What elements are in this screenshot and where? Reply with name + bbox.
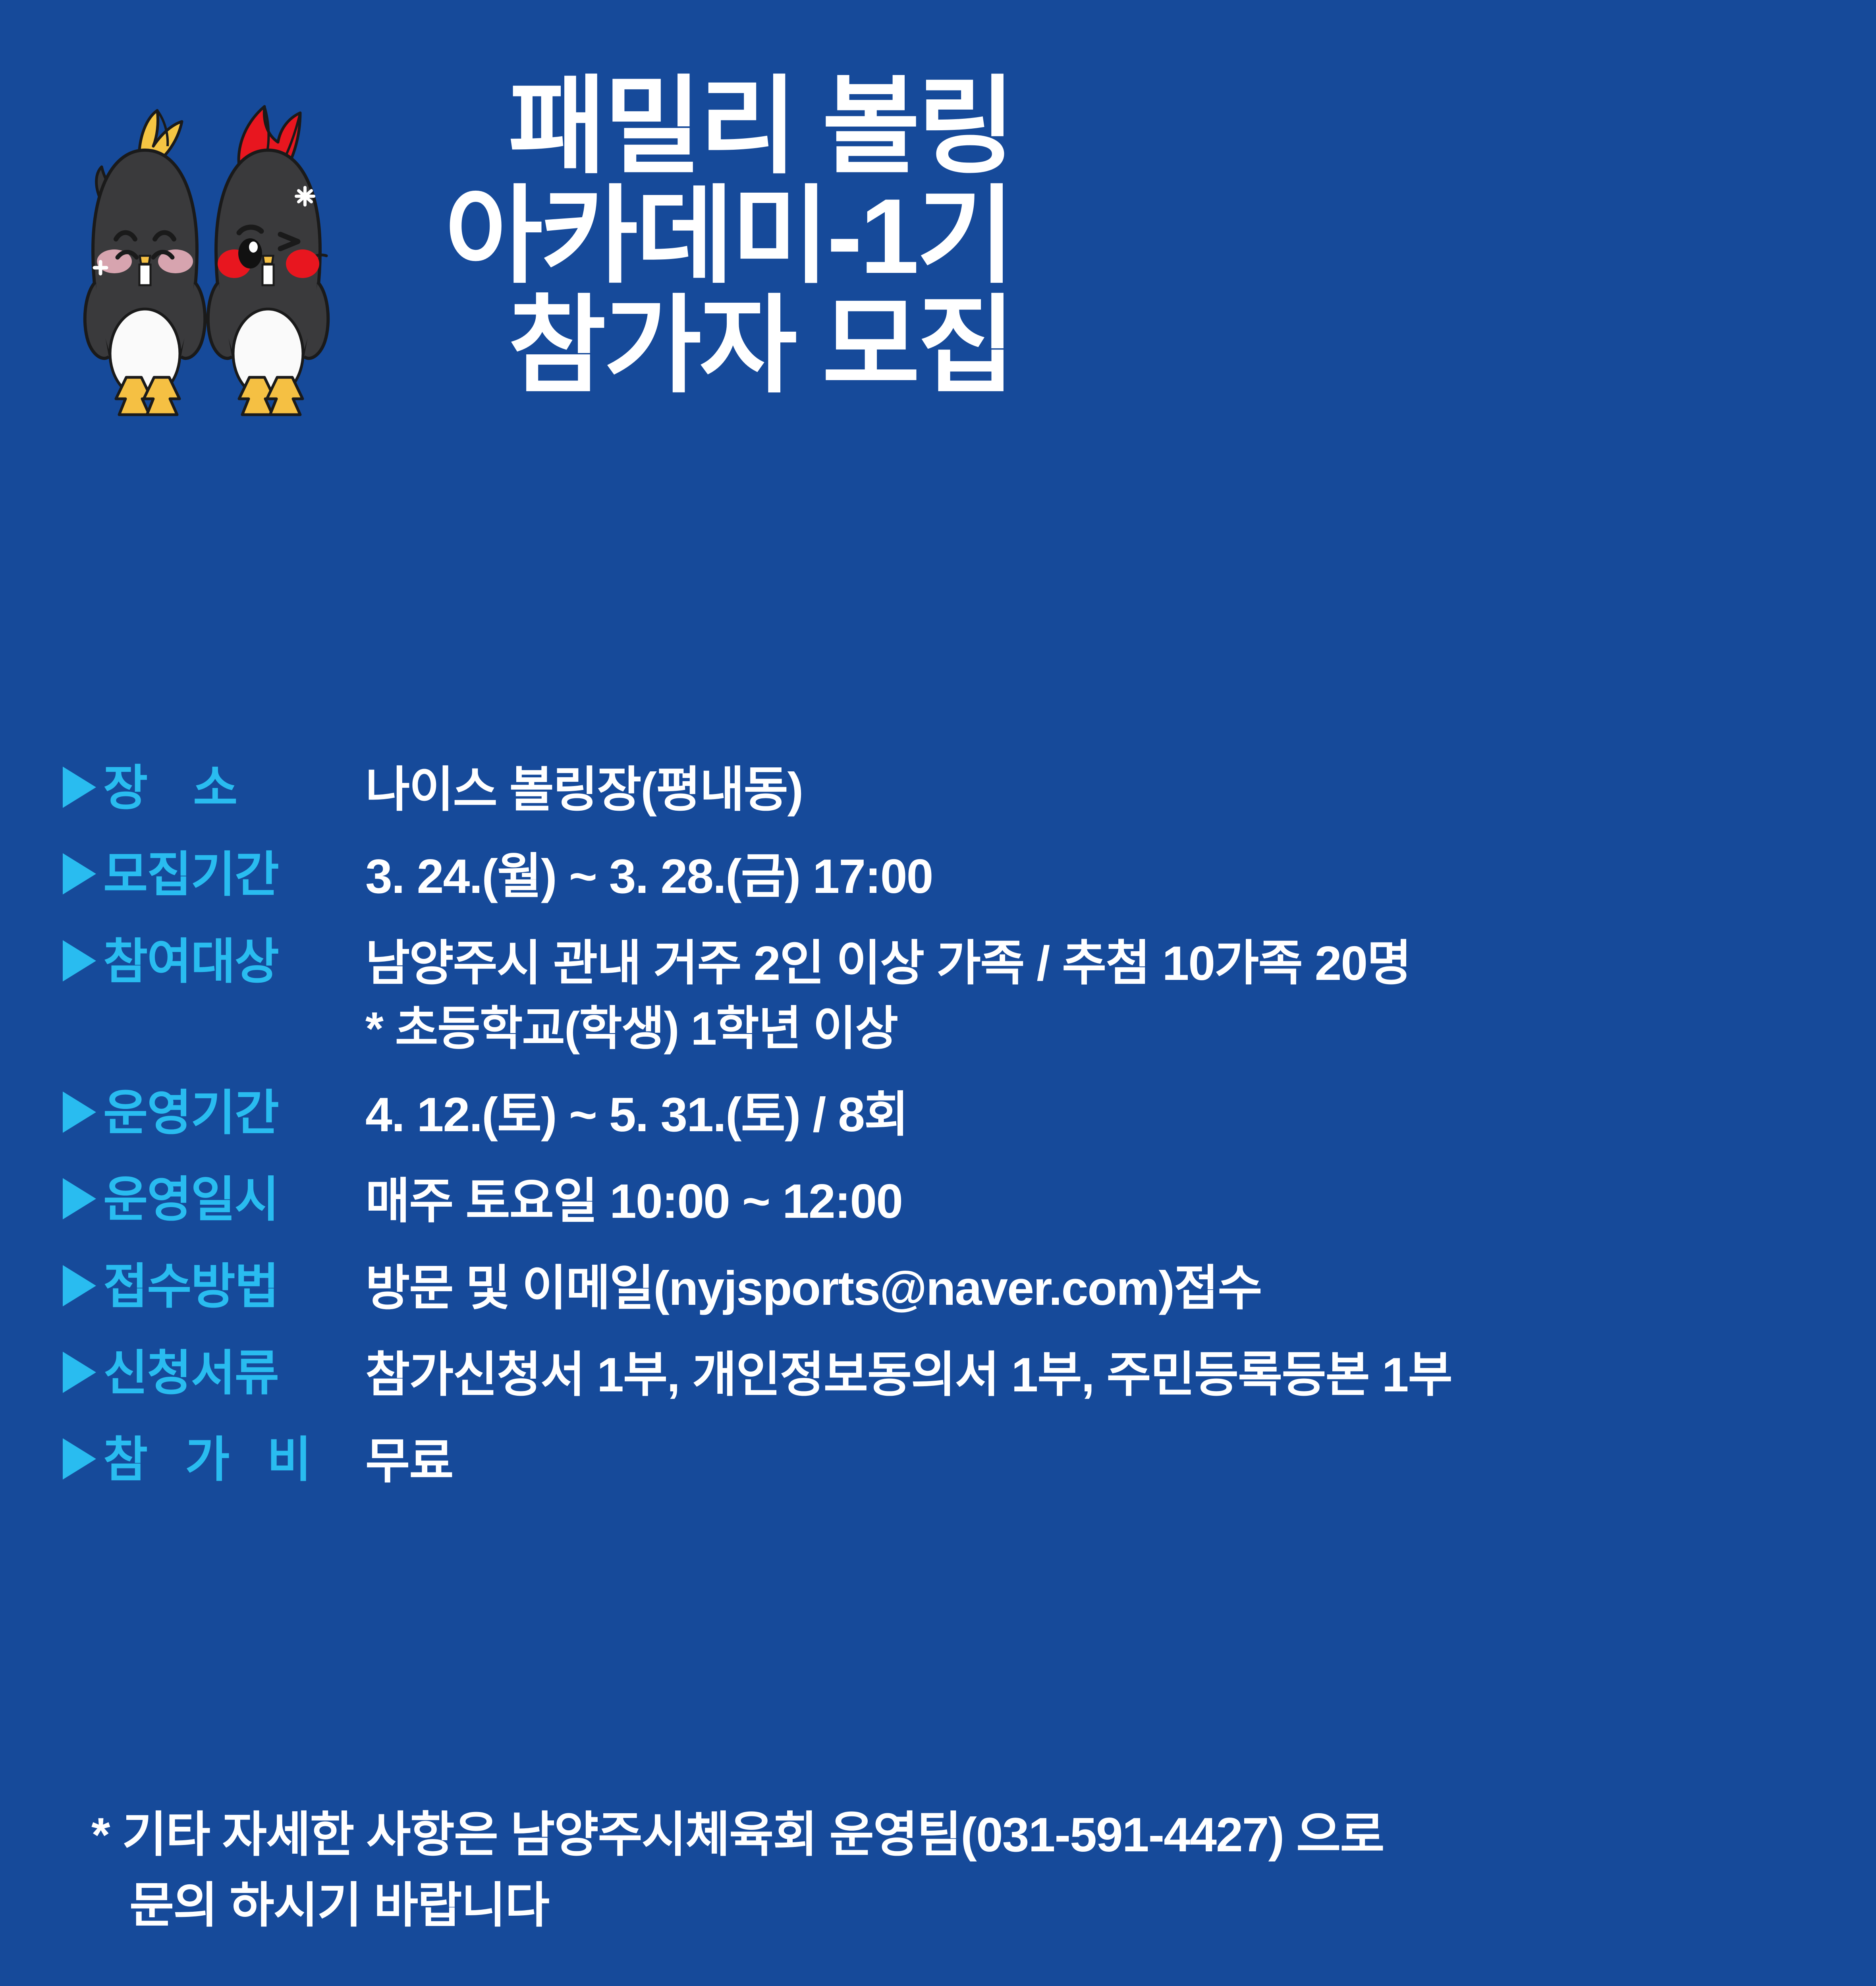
info-value-required-documents: 참가신청서 1부, 개인정보동의서 1부, 주민등록등본 1부 [365, 1348, 1452, 1402]
footnote-line-2: 문의 하시기 바랍니다 [91, 1870, 1839, 1941]
mascot-illustration [79, 56, 365, 429]
triangle-right-icon [60, 1090, 98, 1134]
red-crest-bird-icon [203, 99, 334, 429]
info-values-application-method: 방문 및 이메일(nyjsports@naver.com)접수 [365, 1253, 1847, 1321]
info-values-program-period: 4. 12.(토) ~ 5. 31.(토) / 8회 [365, 1080, 1847, 1148]
title-line-2: 아카데미-1기 [445, 181, 1795, 291]
info-label-application-period: 모집기간 [103, 841, 365, 908]
info-value-program-period: 4. 12.(토) ~ 5. 31.(토) / 8회 [365, 1088, 908, 1142]
info-values-venue: 나이스 볼링장(평내동) [365, 755, 1847, 823]
triangle-right-icon [60, 939, 98, 983]
info-label-application-method: 접수방법 [103, 1253, 365, 1320]
info-values-eligibility: 남양주시 관내 거주 2인 이상 가족 / 추첨 10가족 20명 * 초등학교… [365, 928, 1847, 1061]
info-row-application-period: 모집기간 3. 24.(월) ~ 3. 28.(금) 17:00 [60, 841, 1847, 910]
info-row-eligibility: 참여대상 남양주시 관내 거주 2인 이상 가족 / 추첨 10가족 20명 *… [60, 928, 1847, 1061]
triangle-right-icon [60, 852, 98, 896]
info-values-required-documents: 참가신청서 1부, 개인정보동의서 1부, 주민등록등본 1부 [365, 1340, 1847, 1408]
info-value-application-method: 방문 및 이메일(nyjsports@naver.com)접수 [365, 1261, 1262, 1315]
triangle-right-icon [60, 1350, 98, 1395]
info-value-eligibility: 남양주시 관내 거주 2인 이상 가족 / 추첨 10가족 20명 [365, 936, 1411, 990]
triangle-right-icon [60, 1437, 98, 1481]
info-row-application-method: 접수방법 방문 및 이메일(nyjsports@naver.com)접수 [60, 1253, 1847, 1321]
title-line-1: 패밀리 볼링 [445, 71, 1795, 181]
info-value-application-period: 3. 24.(월) ~ 3. 28.(금) 17:00 [365, 849, 932, 903]
info-value-fee: 무료 [365, 1434, 453, 1488]
info-values-fee: 무료 [365, 1426, 1847, 1495]
info-row-venue: 장 소 나이스 볼링장(평내동) [60, 755, 1847, 823]
footnote-block: * 기타 자세한 사항은 남양주시체육회 운영팀(031-591-4427) 으… [91, 1799, 1839, 1941]
info-row-fee: 참 가 비 무료 [60, 1426, 1847, 1495]
info-label-eligibility: 참여대상 [103, 928, 365, 995]
info-label-required-documents: 신청서류 [103, 1340, 365, 1406]
info-label-schedule: 운영일시 [103, 1166, 365, 1233]
info-label-fee: 참 가 비 [103, 1426, 365, 1493]
info-list: 장 소 나이스 볼링장(평내동) 모집기간 3. 24.(월) ~ 3. 28.… [60, 755, 1847, 1505]
footnote-line-1: * 기타 자세한 사항은 남양주시체육회 운영팀(031-591-4427) 으… [91, 1799, 1839, 1870]
info-label-venue: 장 소 [103, 755, 365, 821]
triangle-right-icon [60, 765, 98, 809]
triangle-right-icon [60, 1263, 98, 1308]
poster-root: 패밀리 볼링 아카데미-1기 참가자 모집 장 소 나이스 볼링장(평내동) 모… [0, 0, 1876, 1986]
info-value-eligibility-note: * 초등학교(학생) 1학년 이상 [365, 1003, 897, 1055]
triangle-right-icon [60, 1177, 98, 1221]
info-row-required-documents: 신청서류 참가신청서 1부, 개인정보동의서 1부, 주민등록등본 1부 [60, 1340, 1847, 1408]
info-value-schedule: 매주 토요일 10:00 ~ 12:00 [365, 1174, 902, 1228]
info-values-schedule: 매주 토요일 10:00 ~ 12:00 [365, 1166, 1847, 1234]
info-values-application-period: 3. 24.(월) ~ 3. 28.(금) 17:00 [365, 841, 1847, 910]
title-line-3: 참가자 모집 [445, 291, 1795, 400]
info-row-program-period: 운영기간 4. 12.(토) ~ 5. 31.(토) / 8회 [60, 1080, 1847, 1148]
info-value-venue: 나이스 볼링장(평내동) [365, 763, 803, 817]
yellow-topknot-bird-icon [79, 99, 210, 429]
poster-title: 패밀리 볼링 아카데미-1기 참가자 모집 [445, 71, 1795, 400]
info-label-program-period: 운영기간 [103, 1080, 365, 1146]
info-row-schedule: 운영일시 매주 토요일 10:00 ~ 12:00 [60, 1166, 1847, 1234]
